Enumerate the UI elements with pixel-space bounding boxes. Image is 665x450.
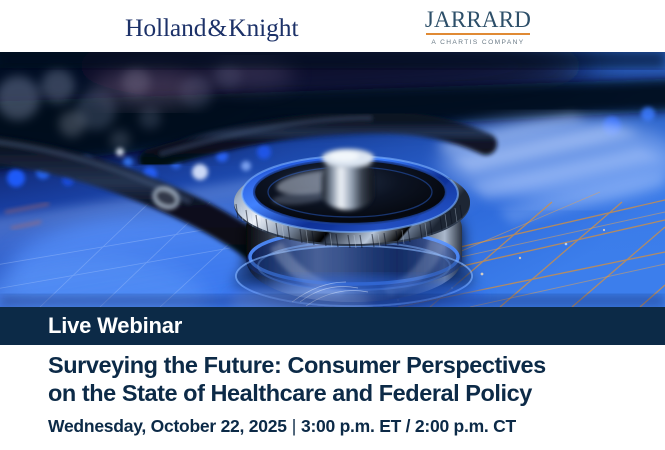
webinar-title-line-1: Surveying the Future: Consumer Perspecti… xyxy=(48,351,648,379)
live-webinar-band: Live Webinar xyxy=(0,307,665,345)
jarrard-logo: JARRARD A CHARTIS COMPANY xyxy=(424,8,532,46)
holland-and-knight-logo: Holland&Knight xyxy=(125,13,320,43)
jarrard-wordmark: JARRARD xyxy=(424,8,532,32)
live-webinar-label: Live Webinar xyxy=(48,314,182,338)
datetime-separator: | xyxy=(287,416,301,436)
webinar-title: Surveying the Future: Consumer Perspecti… xyxy=(48,351,648,407)
jarrard-tagline: A CHARTIS COMPANY xyxy=(424,39,532,47)
webinar-datetime: Wednesday, October 22, 2025|3:00 p.m. ET… xyxy=(48,415,648,437)
title-block: Surveying the Future: Consumer Perspecti… xyxy=(0,345,665,450)
logo-bar: Holland&Knight JARRARD A CHARTIS COMPANY xyxy=(0,0,665,52)
jarrard-rule-divider xyxy=(426,33,530,35)
webinar-title-line-2: on the State of Healthcare and Federal P… xyxy=(48,379,648,407)
webinar-promo-graphic: Holland&Knight JARRARD A CHARTIS COMPANY xyxy=(0,0,665,450)
holland-and-knight-word-knight: Knight xyxy=(228,13,298,42)
hero-stethoscope-image xyxy=(0,52,665,307)
webinar-date: Wednesday, October 22, 2025 xyxy=(48,416,287,436)
holland-and-knight-word-holland: Holland xyxy=(125,13,206,42)
webinar-time: 3:00 p.m. ET / 2:00 p.m. CT xyxy=(301,416,516,436)
holland-and-knight-ampersand: & xyxy=(206,13,228,42)
